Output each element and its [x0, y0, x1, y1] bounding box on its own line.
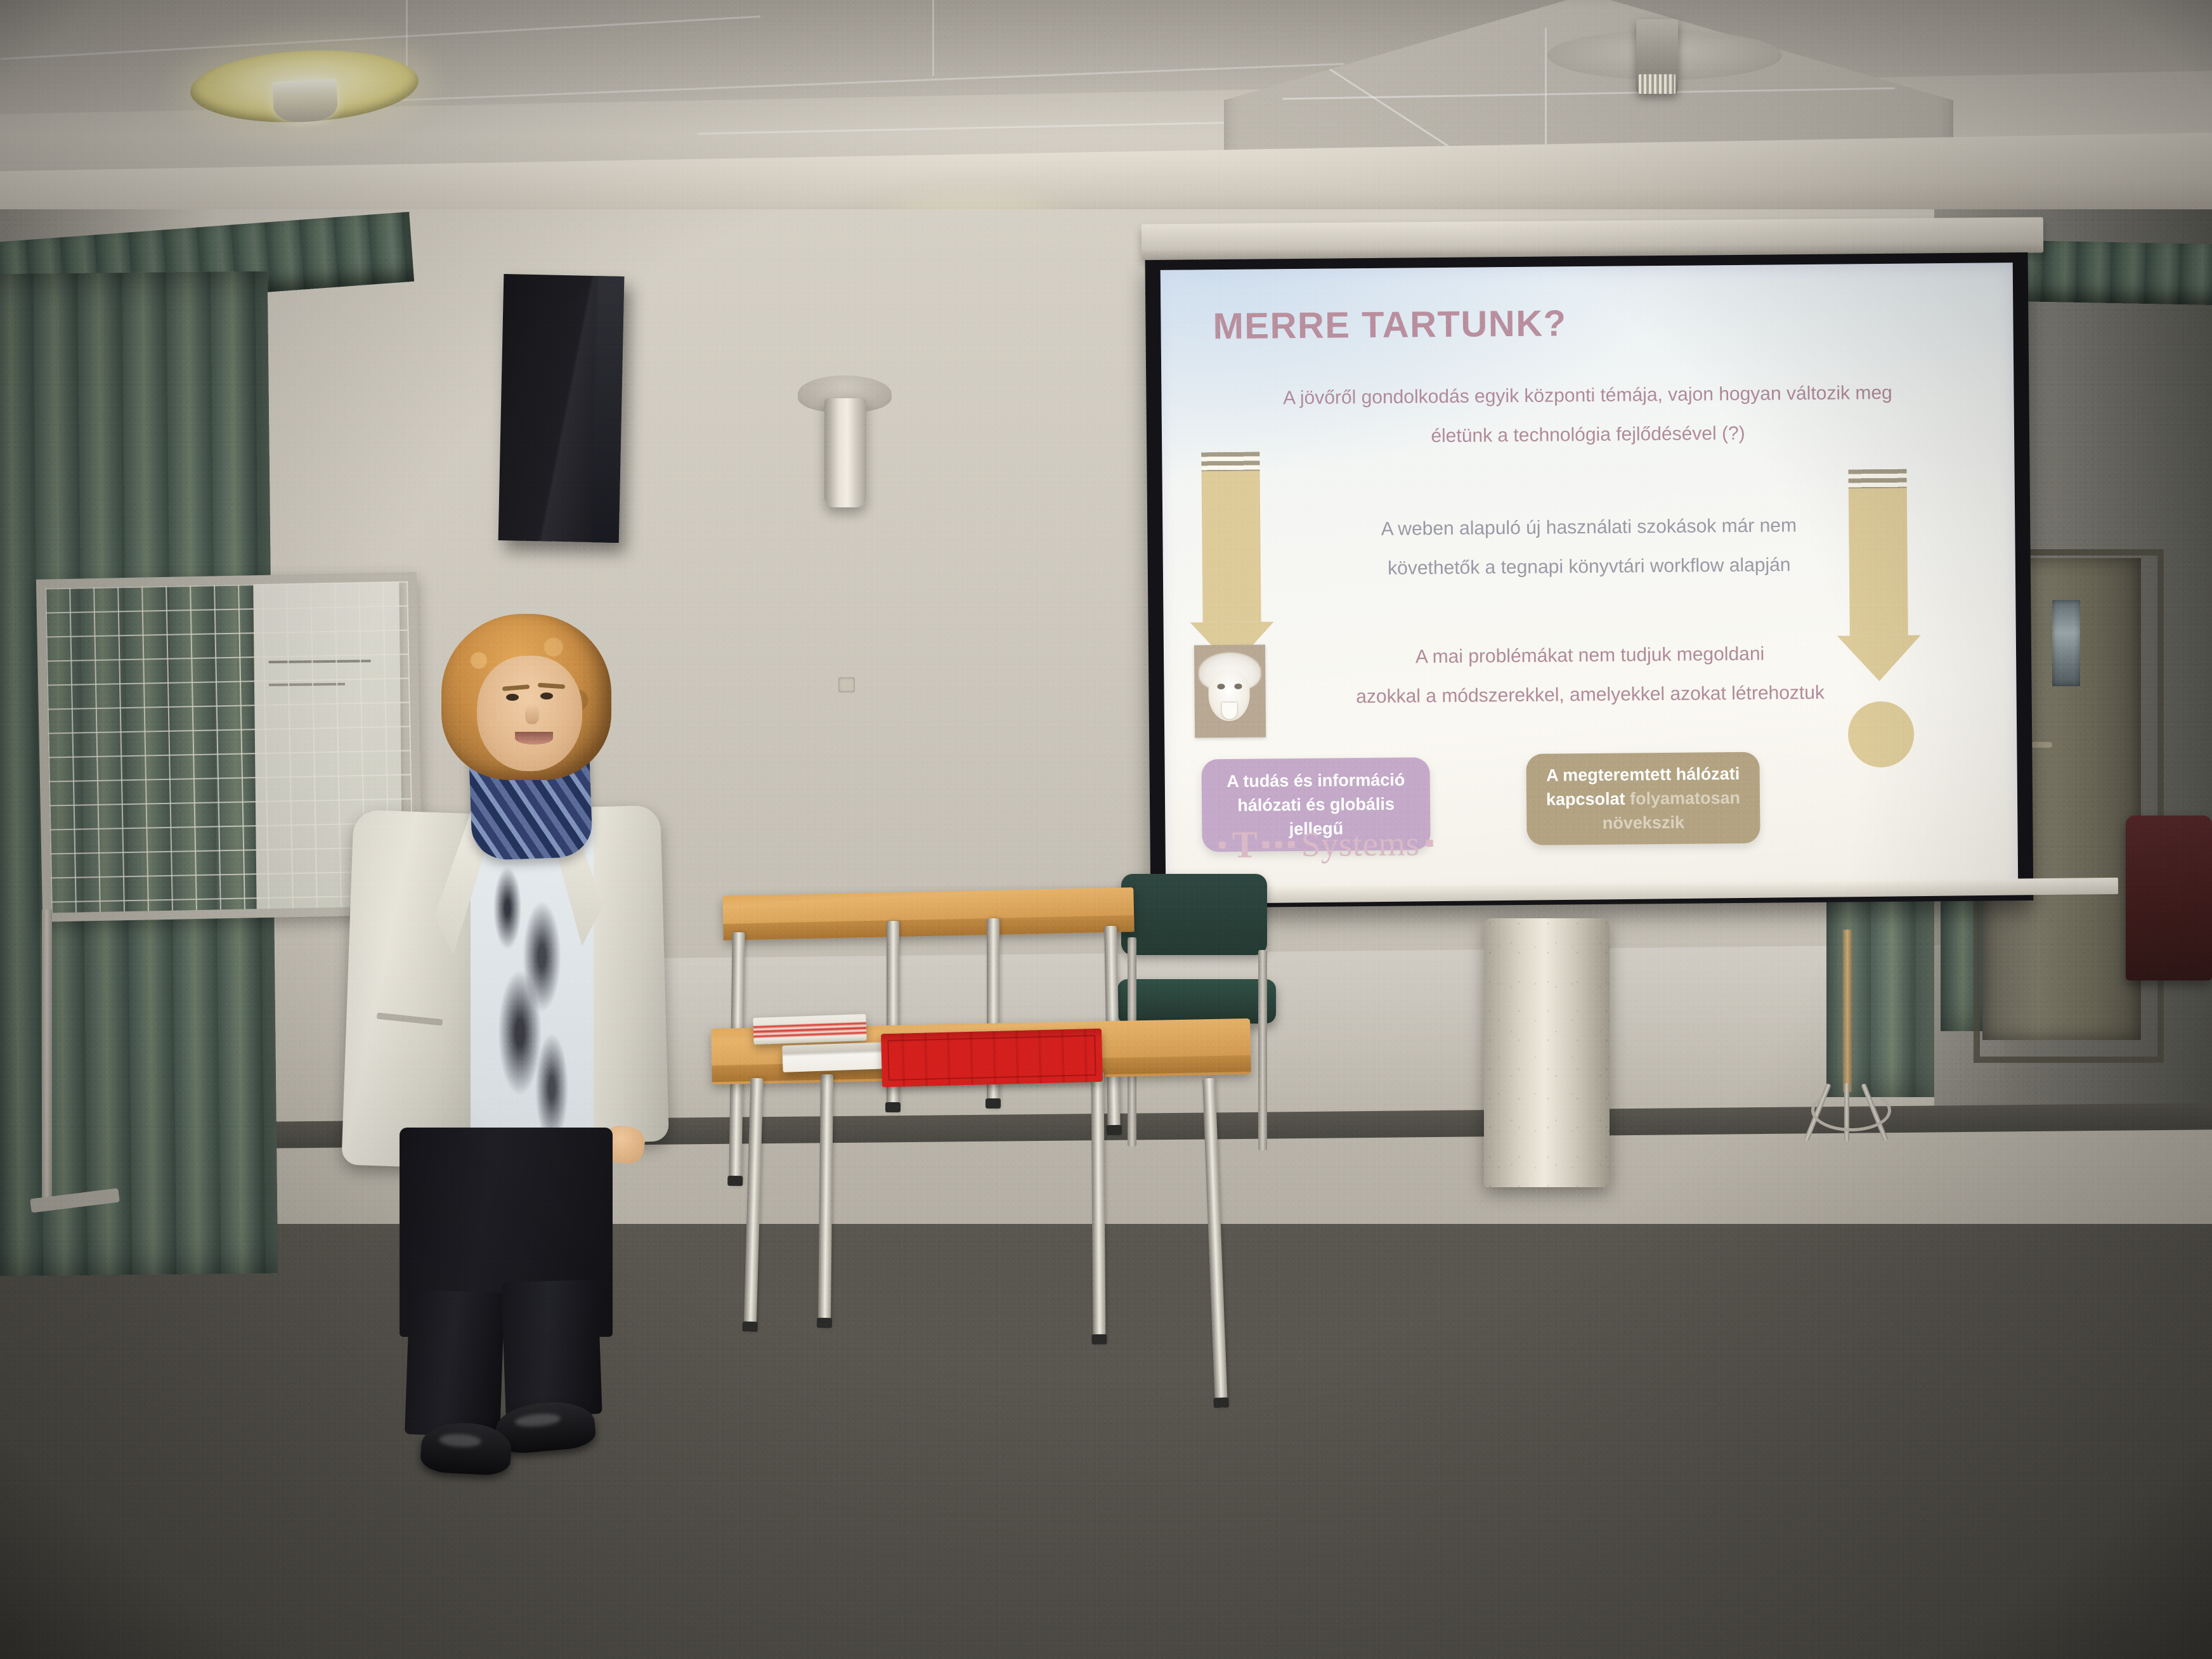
- decorative-circle: [1848, 701, 1915, 768]
- green-chair[interactable]: [1117, 874, 1276, 1140]
- t-systems-logo: T Systems: [1218, 821, 1433, 867]
- wall-speaker: [498, 274, 625, 543]
- room-shell: MERRE TARTUNK? A jövőről gondolkodás egy…: [0, 0, 2212, 1659]
- presentation-slide: MERRE TARTUNK? A jövőről gondolkodás egy…: [1161, 263, 2019, 892]
- wall-sconce-icon: [824, 398, 866, 507]
- presenter[interactable]: [330, 628, 685, 1446]
- t-systems-logo-word: Systems: [1301, 823, 1419, 864]
- concrete-column: [1484, 918, 1610, 1187]
- arrow-stripes-right: [1849, 469, 1907, 489]
- table-leg: [1091, 1072, 1105, 1344]
- callout-right-bold: kapcsolat: [1546, 789, 1630, 809]
- conference-room-photo: MERRE TARTUNK? A jövőről gondolkodás egy…: [0, 0, 2212, 1659]
- slide-paragraph-1-line-2: életünk a technológia fejlődésével (?): [1162, 415, 2014, 455]
- ceiling-spotlight-icon: [1636, 19, 1678, 94]
- callout-box-right: A megteremtett hálózati kapcsolat folyam…: [1526, 752, 1760, 845]
- presenter-face: [477, 656, 582, 771]
- table-leg: [818, 1074, 833, 1328]
- callout-left-line-1: A tudás és információ: [1226, 767, 1405, 793]
- red-placemat[interactable]: [881, 1029, 1103, 1087]
- tripod-ring: [1811, 1090, 1891, 1131]
- presenter-leg-right: [501, 1279, 602, 1417]
- projection-screen: MERRE TARTUNK? A jövőről gondolkodás egy…: [1128, 228, 2164, 932]
- power-socket-icon: [838, 677, 855, 693]
- ceiling-seam: [932, 0, 934, 76]
- mesh-panel-leg: [42, 909, 52, 1201]
- callout-right-line-2: kapcsolat folyamatosan: [1546, 786, 1740, 812]
- arrow-stripes-left: [1201, 452, 1259, 472]
- callout-right-line-3: növekszik: [1603, 810, 1684, 835]
- slide-paragraph-1-line-1: A jövőről gondolkodás egyik központi tém…: [1161, 375, 2014, 415]
- callout-right-line-1: A megteremtett hálózati: [1546, 761, 1740, 787]
- white-book[interactable]: [782, 1042, 887, 1072]
- stack-of-books[interactable]: [753, 1014, 866, 1044]
- slide-title: MERRE TARTUNK?: [1213, 302, 1567, 348]
- tripod-pole: [1843, 930, 1852, 1092]
- callout-right-faded: folyamatosan: [1630, 788, 1740, 809]
- presenter-leg-left: [405, 1289, 505, 1437]
- back-table[interactable]: [722, 887, 1134, 940]
- callout-left-line-2: hálózati és globális: [1237, 792, 1395, 817]
- t-systems-logo-t: T: [1232, 823, 1256, 867]
